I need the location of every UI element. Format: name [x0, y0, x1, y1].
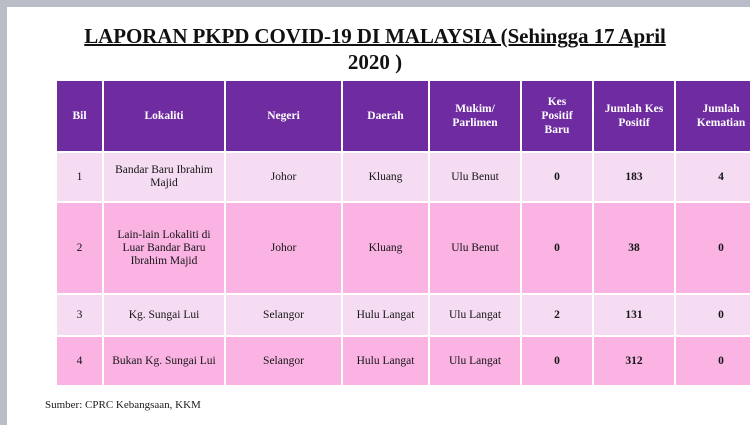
cell-kes-positif-baru: 0: [522, 203, 592, 293]
cell-mukim: Ulu Benut: [430, 153, 520, 201]
table-row: 4 Bukan Kg. Sungai Lui Selangor Hulu Lan…: [57, 337, 750, 385]
cell-kes-positif-baru: 0: [522, 337, 592, 385]
column-header-negeri-label: Negeri: [267, 110, 300, 122]
column-header-bil: Bil: [57, 81, 102, 151]
table-row: 3 Kg. Sungai Lui Selangor Hulu Langat Ul…: [57, 295, 750, 335]
column-header-mukim-parlimen: Mukim/ Parlimen: [430, 81, 520, 151]
column-header-bil-label: Bil: [72, 110, 86, 122]
cell-jumlah-kematian: 0: [676, 337, 750, 385]
column-header-kpb-line-1: Kes: [548, 96, 567, 108]
slide-canvas: LAPORAN PKPD COVID-19 DI MALAYSIA (Sehin…: [7, 7, 750, 425]
column-header-jkp-line-2: Positif: [618, 117, 649, 129]
cell-lokaliti: Lain-lain Lokaliti di Luar Bandar Baru I…: [104, 203, 224, 293]
cell-jumlah-kematian: 0: [676, 203, 750, 293]
page-title-line-2-text: 2020 ): [348, 50, 402, 74]
cell-mukim: Ulu Langat: [430, 295, 520, 335]
column-header-jumlah-kematian: Jumlah Kematian: [676, 81, 750, 151]
column-header-jumlah-kes-positif: Jumlah Kes Positif: [594, 81, 674, 151]
slide-frame: LAPORAN PKPD COVID-19 DI MALAYSIA (Sehin…: [0, 0, 750, 425]
column-header-mukim-line-2: Parlimen: [452, 117, 497, 129]
cell-bil: 1: [57, 153, 102, 201]
cell-jumlah-kematian: 0: [676, 295, 750, 335]
column-header-daerah: Daerah: [343, 81, 428, 151]
table-row: 2 Lain-lain Lokaliti di Luar Bandar Baru…: [57, 203, 750, 293]
report-table-body: 1 Bandar Baru Ibrahim Majid Johor Kluang…: [57, 153, 750, 385]
cell-kes-positif-baru: 0: [522, 153, 592, 201]
cell-mukim: Ulu Langat: [430, 337, 520, 385]
cell-bil: 2: [57, 203, 102, 293]
cell-jumlah-kematian: 4: [676, 153, 750, 201]
report-table: Bil Lokaliti Negeri Daerah Mukim/ Parlim…: [55, 79, 750, 387]
table-header-row: Bil Lokaliti Negeri Daerah Mukim/ Parlim…: [57, 81, 750, 151]
cell-jumlah-kes-positif: 312: [594, 337, 674, 385]
cell-negeri: Selangor: [226, 337, 341, 385]
cell-lokaliti: Bukan Kg. Sungai Lui: [104, 337, 224, 385]
cell-negeri: Johor: [226, 203, 341, 293]
cell-bil: 4: [57, 337, 102, 385]
column-header-lokaliti: Lokaliti: [104, 81, 224, 151]
report-table-container: Bil Lokaliti Negeri Daerah Mukim/ Parlim…: [55, 79, 705, 387]
cell-daerah: Hulu Langat: [343, 337, 428, 385]
column-header-kpb-line-3: Baru: [545, 124, 570, 136]
column-header-jkp-line-1: Jumlah Kes: [605, 103, 663, 115]
cell-kes-positif-baru: 2: [522, 295, 592, 335]
source-note: Sumber: CPRC Kebangsaan, KKM: [45, 399, 201, 411]
cell-lokaliti: Kg. Sungai Lui: [104, 295, 224, 335]
page-title-line-1: LAPORAN PKPD COVID-19 DI MALAYSIA (Sehin…: [37, 23, 713, 49]
column-header-jk-line-2: Kematian: [697, 117, 746, 129]
cell-jumlah-kes-positif: 38: [594, 203, 674, 293]
column-header-mukim-line-1: Mukim/: [455, 103, 495, 115]
page-title-line-2: 2020 ): [37, 49, 713, 75]
cell-daerah: Kluang: [343, 153, 428, 201]
table-row: 1 Bandar Baru Ibrahim Majid Johor Kluang…: [57, 153, 750, 201]
page-title: LAPORAN PKPD COVID-19 DI MALAYSIA (Sehin…: [37, 23, 713, 75]
report-table-header: Bil Lokaliti Negeri Daerah Mukim/ Parlim…: [57, 81, 750, 151]
cell-mukim: Ulu Benut: [430, 203, 520, 293]
cell-daerah: Hulu Langat: [343, 295, 428, 335]
column-header-jk-line-1: Jumlah: [702, 103, 739, 115]
cell-daerah: Kluang: [343, 203, 428, 293]
column-header-kes-positif-baru: Kes Positif Baru: [522, 81, 592, 151]
page-title-line-1-text: LAPORAN PKPD COVID-19 DI MALAYSIA (Sehin…: [84, 24, 666, 48]
column-header-kpb-line-2: Positif: [541, 110, 572, 122]
column-header-lokaliti-label: Lokaliti: [145, 110, 184, 122]
cell-lokaliti: Bandar Baru Ibrahim Majid: [104, 153, 224, 201]
cell-jumlah-kes-positif: 131: [594, 295, 674, 335]
column-header-negeri: Negeri: [226, 81, 341, 151]
cell-negeri: Selangor: [226, 295, 341, 335]
cell-negeri: Johor: [226, 153, 341, 201]
column-header-daerah-label: Daerah: [367, 110, 403, 122]
cell-jumlah-kes-positif: 183: [594, 153, 674, 201]
cell-bil: 3: [57, 295, 102, 335]
